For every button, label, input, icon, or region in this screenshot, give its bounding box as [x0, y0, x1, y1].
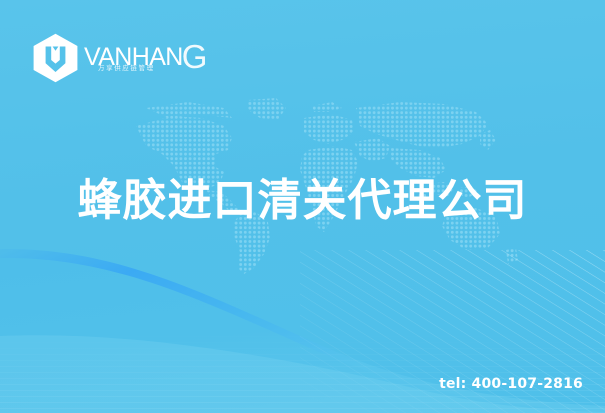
brand-logo[interactable]: VANHANG 万享供应链管理 — [32, 33, 194, 83]
brand-wordmark-group: VANHANG 万享供应链管理 — [84, 38, 194, 78]
contact-phone: tel: 400-107-2816 — [439, 376, 583, 392]
vanhang-hexagon-logo-icon — [32, 33, 79, 83]
promo-banner: VANHANG 万享供应链管理 蜂胶进口清关代理公司 tel: 400-107-… — [0, 0, 605, 413]
brand-subtitle: 万享供应链管理 — [98, 62, 155, 72]
page-title: 蜂胶进口清关代理公司 — [0, 175, 605, 227]
brand-wordmark-g: G — [182, 38, 207, 75]
